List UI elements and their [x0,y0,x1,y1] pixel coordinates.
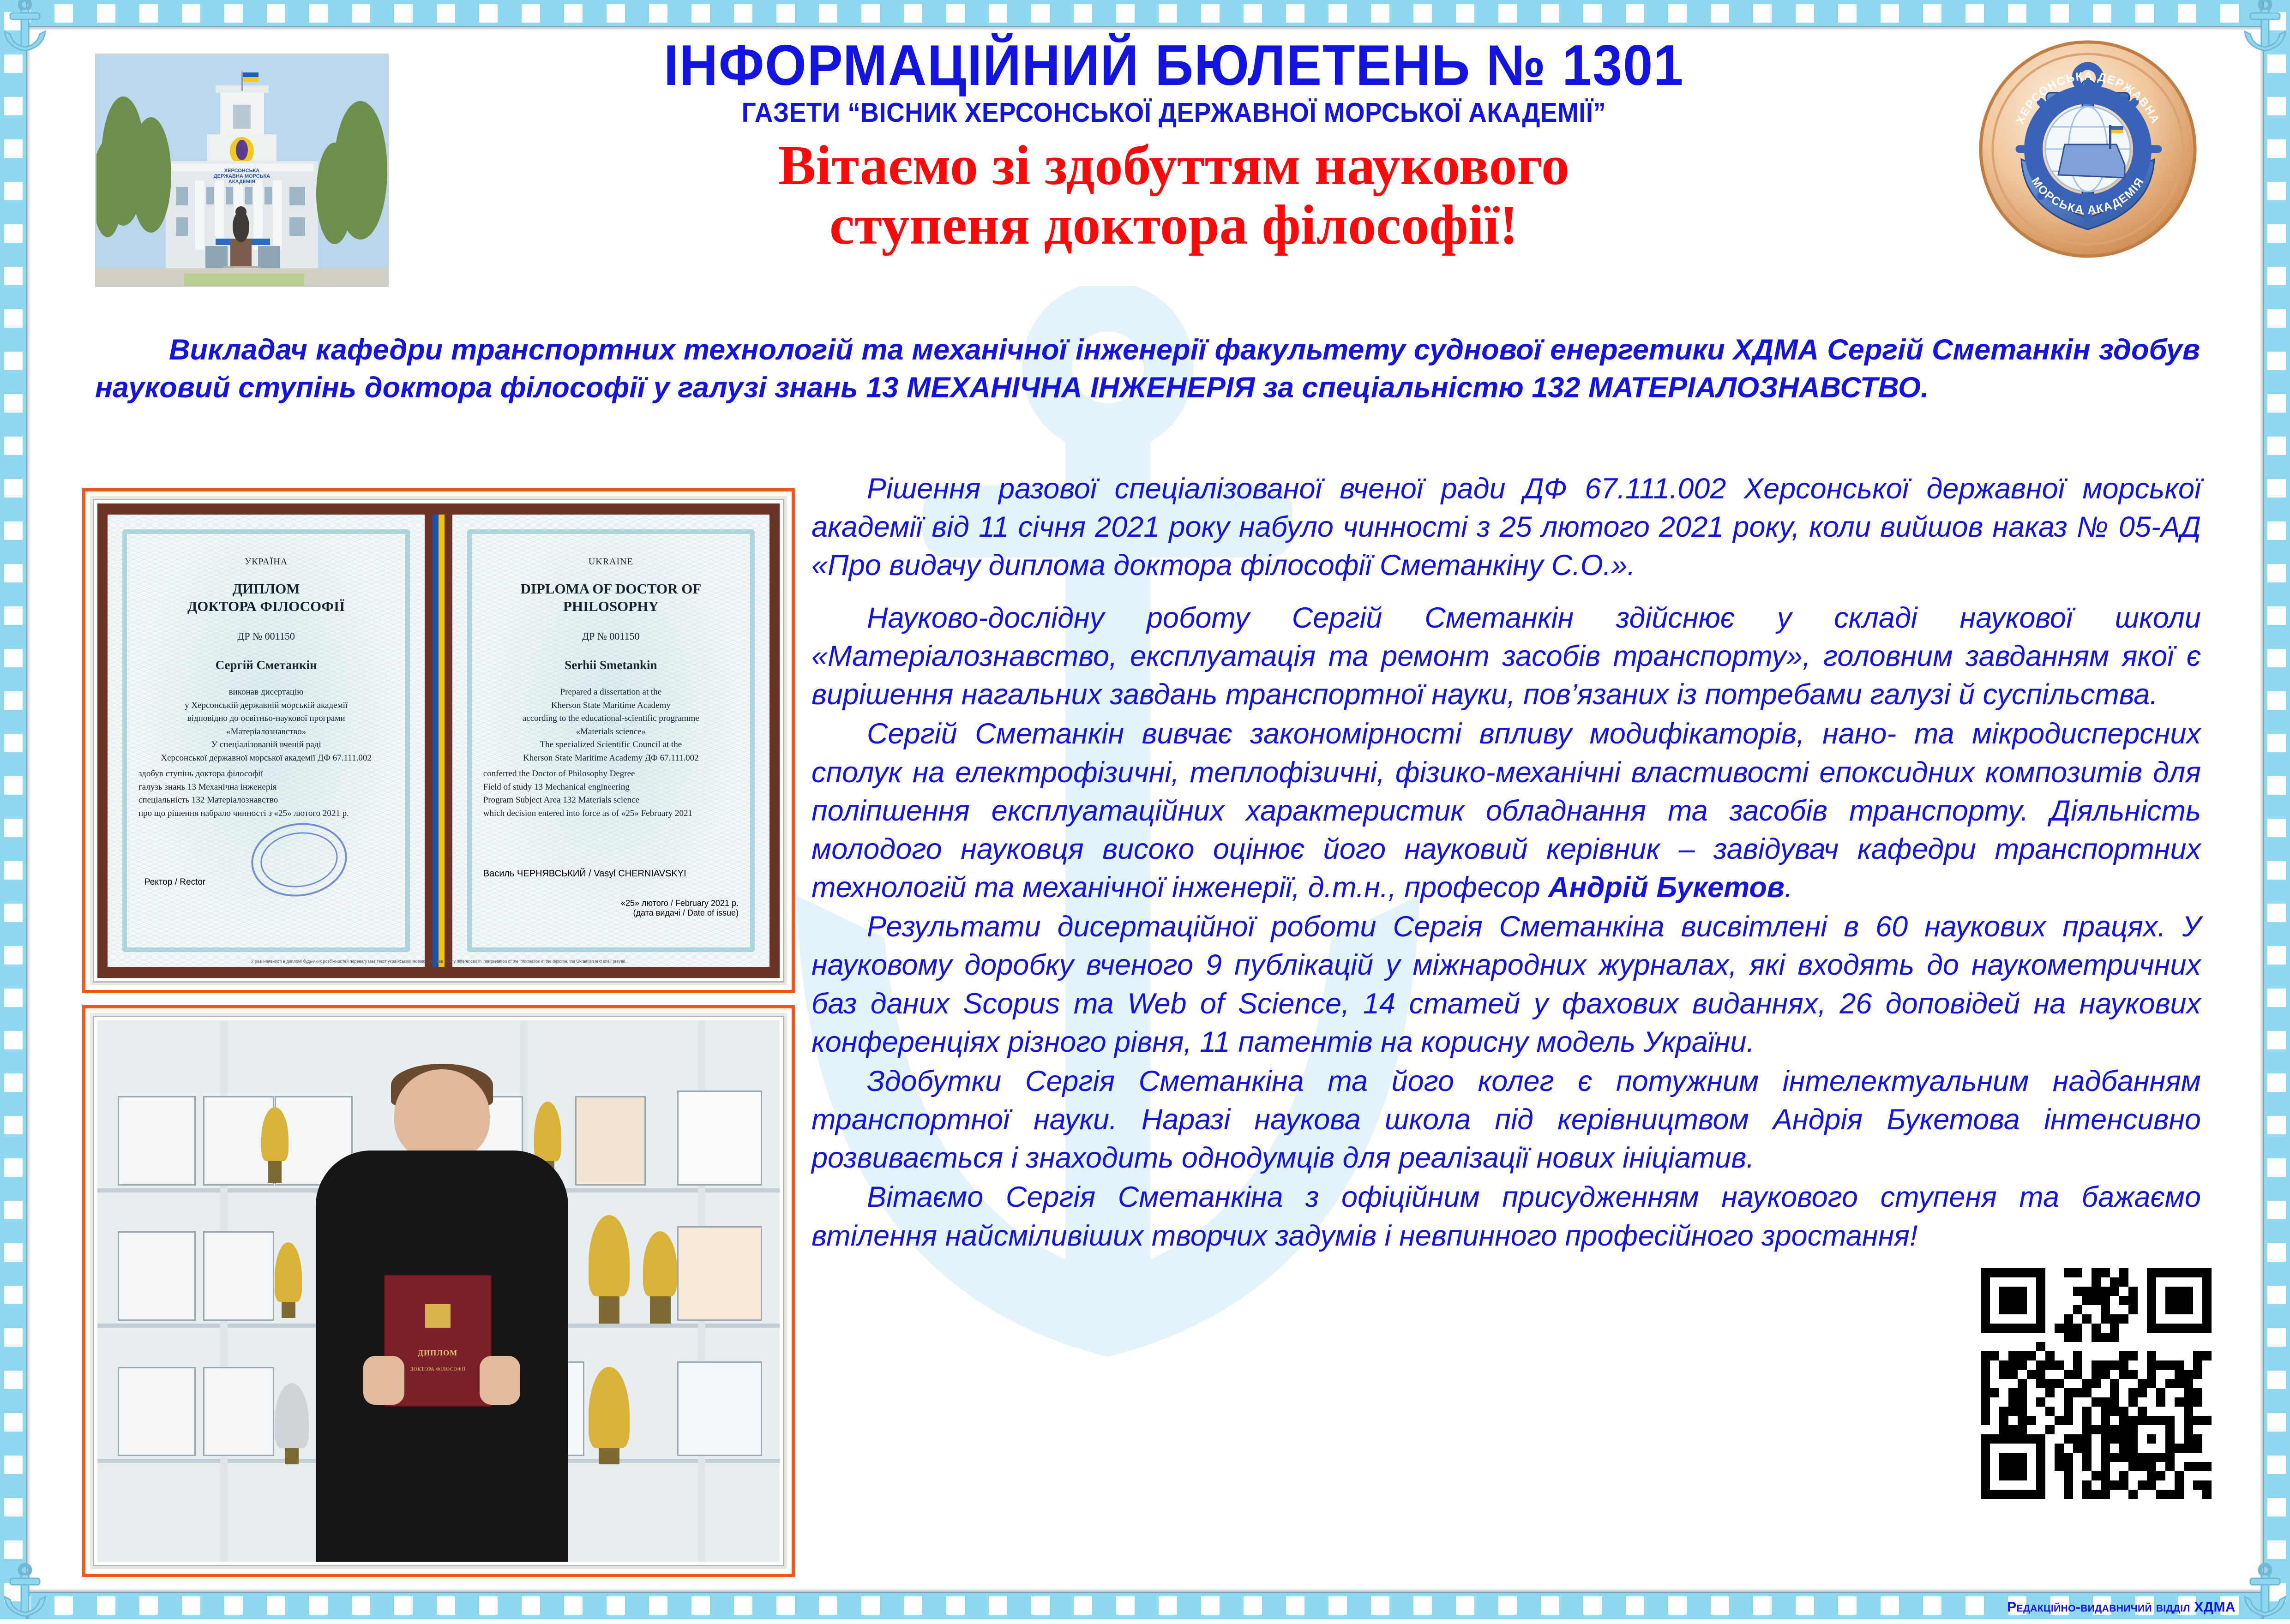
diploma-ua-l3: відповідно до освітньо-наукової програми [138,712,394,725]
intro-text-c: . [1921,372,1929,404]
diploma-rector-signature: Василь ЧЕРНЯВСЬКИЙ / Vasyl CHERNIAVSKYI [483,869,739,879]
diploma-en-l2: Kherson State Maritime Academy [483,699,739,713]
diploma-number-en: ДР № 001150 [483,629,739,643]
newspaper-subtitle: ГАЗЕТИ “ВІСНИК ХЕРСОНСЬКОЇ ДЕРЖАВНОЇ МОР… [459,99,1889,127]
diploma-page-english: UKRAINE DIPLOMA OF DOCTOR OF PHILOSOPHY … [452,515,769,967]
chain-border-top [0,0,2290,27]
diploma-country-ua: УКРАЇНА [138,555,394,568]
bulletin-title: ІНФОРМАЦІЙНИЙ БЮЛЕТЕНЬ № 1301 [459,27,1889,94]
diploma-holder-name-ua: Сергій Сметанкін [138,656,394,674]
diploma-document: УКРАЇНА ДИПЛОМ ДОКТОРА ФІЛОСОФІЇ ДР № 00… [97,503,780,978]
diploma-ua-l9: спеціальність 132 Матеріалознавство [138,794,394,807]
recipient-portrait-photo: ДИПЛОМ ДОКТОРА ФІЛОСОФІЇ [82,1005,795,1577]
editorial-department-credit: Редакційно-видавничий відділ ХДМА [2007,1600,2236,1615]
diploma-ua-l1: виконав дисертацію [138,686,394,699]
headline-line-1: Вітаємо зі здобуттям наукового [405,136,1942,195]
diploma-en-l3: according to the educational-scientific … [483,712,739,725]
diploma-en-l4: «Materials science» [483,725,739,739]
diploma-issue-date-label: (дата видачі / Date of issue) [483,908,739,918]
supervisor-name: Андрій Букетов [1548,871,1785,904]
diploma-en-l10: which decision entered into force as of … [483,807,739,821]
diploma-photo: УКРАЇНА ДИПЛОМ ДОКТОРА ФІЛОСОФІЇ ДР № 00… [82,488,795,993]
academy-building-photo: ХЕРСОНСЬКА ДЕРЖАВНА МОРСЬКА АКАДЕМІЯ [95,54,389,287]
diploma-ua-l6: Херсонської державної морської академії … [138,752,394,765]
diploma-page-ukrainian: УКРАЇНА ДИПЛОМ ДОКТОРА ФІЛОСОФІЇ ДР № 00… [108,515,425,967]
official-stamp-icon [246,817,352,902]
diploma-issue-date: «25» лютого / February 2021 р. [483,899,739,908]
diploma-en-l1: Prepared a dissertation at the [483,686,739,699]
diploma-en-l9: Program Subject Area 132 Materials scien… [483,794,739,807]
research-text-a: Сергій Сметанкін вивчає закономірності в… [811,718,2201,904]
congratulations-headline: Вітаємо зі здобуттям наукового ступеня д… [405,136,1942,255]
diploma-holder-name-en: Serhii Smetankin [483,656,739,674]
svg-text:ДЕРЖАВНА МОРСЬКА: ДЕРЖАВНА МОРСЬКА [214,174,270,179]
intro-paragraph: Викладач кафедри транспортних технологій… [95,331,2200,407]
svg-text:ХЕРСОНСЬКА: ХЕРСОНСЬКА [224,168,259,174]
diploma-rector-label: Ректор / Rector [144,877,205,887]
diploma-number-ua: ДР № 001150 [138,629,394,643]
qr-code[interactable] [1981,1268,2212,1499]
diploma-ua-l8: галузь знань 13 Механічна інженерія [138,781,394,794]
diploma-country-en: UKRAINE [483,555,739,568]
diploma-en-l7: conferred the Doctor of Philosophy Degre… [483,767,739,781]
article-body-column: Науково-дослідну роботу Сергій Сметанкін… [811,599,2201,1255]
chain-border-right [2263,0,2290,1619]
held-diploma-label: ДИПЛОМ [385,1348,491,1358]
diploma-title-en-1: DIPLOMA OF DOCTOR OF [483,580,739,598]
decision-paragraph: Рішення разової спеціалізованої вченої р… [811,470,2201,585]
paragraph-results: Результати дисертаційної роботи Сергія С… [811,908,2201,1061]
academy-seal-logo: ХЕРСОНСЬКА ДЕРЖАВНА МОРСЬКА АКАДЕМІЯ [1977,38,2199,260]
diploma-ua-l5: У спеціалізованій вченій раді [138,738,394,752]
chain-border-bottom [0,1592,2290,1619]
svg-text:АКАДЕМІЯ: АКАДЕМІЯ [228,179,255,185]
diploma-title-ua-2: ДОКТОРА ФІЛОСОФІЇ [138,598,394,615]
masthead: ІНФОРМАЦІЙНИЙ БЮЛЕТЕНЬ № 1301 ГАЗЕТИ “ВІ… [405,27,1942,255]
diploma-title-ua-1: ДИПЛОМ [138,580,394,598]
portrait-face [394,1069,490,1161]
paragraph-research: Сергій Сметанкін вивчає закономірності в… [811,715,2201,907]
diploma-en-l5: The specialized Scientific Council at th… [483,738,739,752]
portrait-scene: ДИПЛОМ ДОКТОРА ФІЛОСОФІЇ [97,1020,780,1562]
paragraph-achievements: Здобутки Сергія Сметанкіна та його колег… [811,1062,2201,1177]
diploma-ua-l7: здобув ступінь доктора філософії [138,767,394,781]
diploma-title-en-2: PHILOSOPHY [483,598,739,615]
diploma-en-l6: Kherson State Maritime Academy ДФ 67.111… [483,752,739,765]
bulletin-header: ХЕРСОНСЬКА ДЕРЖАВНА МОРСЬКА АКАДЕМІЯ [27,27,2263,322]
chain-border-left [0,0,27,1619]
research-text-b: . [1785,871,1793,904]
diploma-en-l8: Field of study 13 Mechanical engineering [483,781,739,794]
diploma-ua-l4: «Матеріалознавство» [138,725,394,739]
paragraph-scientific-school: Науково-дослідну роботу Сергій Сметанкін… [811,599,2201,714]
diploma-disclaimer: У разі наявності в дипломі будь-яких роз… [132,959,745,964]
diploma-ua-l2: у Херсонській державній морській академі… [138,699,394,713]
diploma-ua-l10: про що рішення набрало чинності з «25» л… [138,807,394,821]
headline-line-2: ступеня доктора філософії! [405,195,1942,255]
intro-text-a: Викладач кафедри транспортних технологій… [169,334,1827,366]
diploma-spine-ribbon [433,515,445,967]
paragraph-final-congratulation: Вітаємо Сергія Сметанкіна з офіційним пр… [811,1178,2201,1255]
